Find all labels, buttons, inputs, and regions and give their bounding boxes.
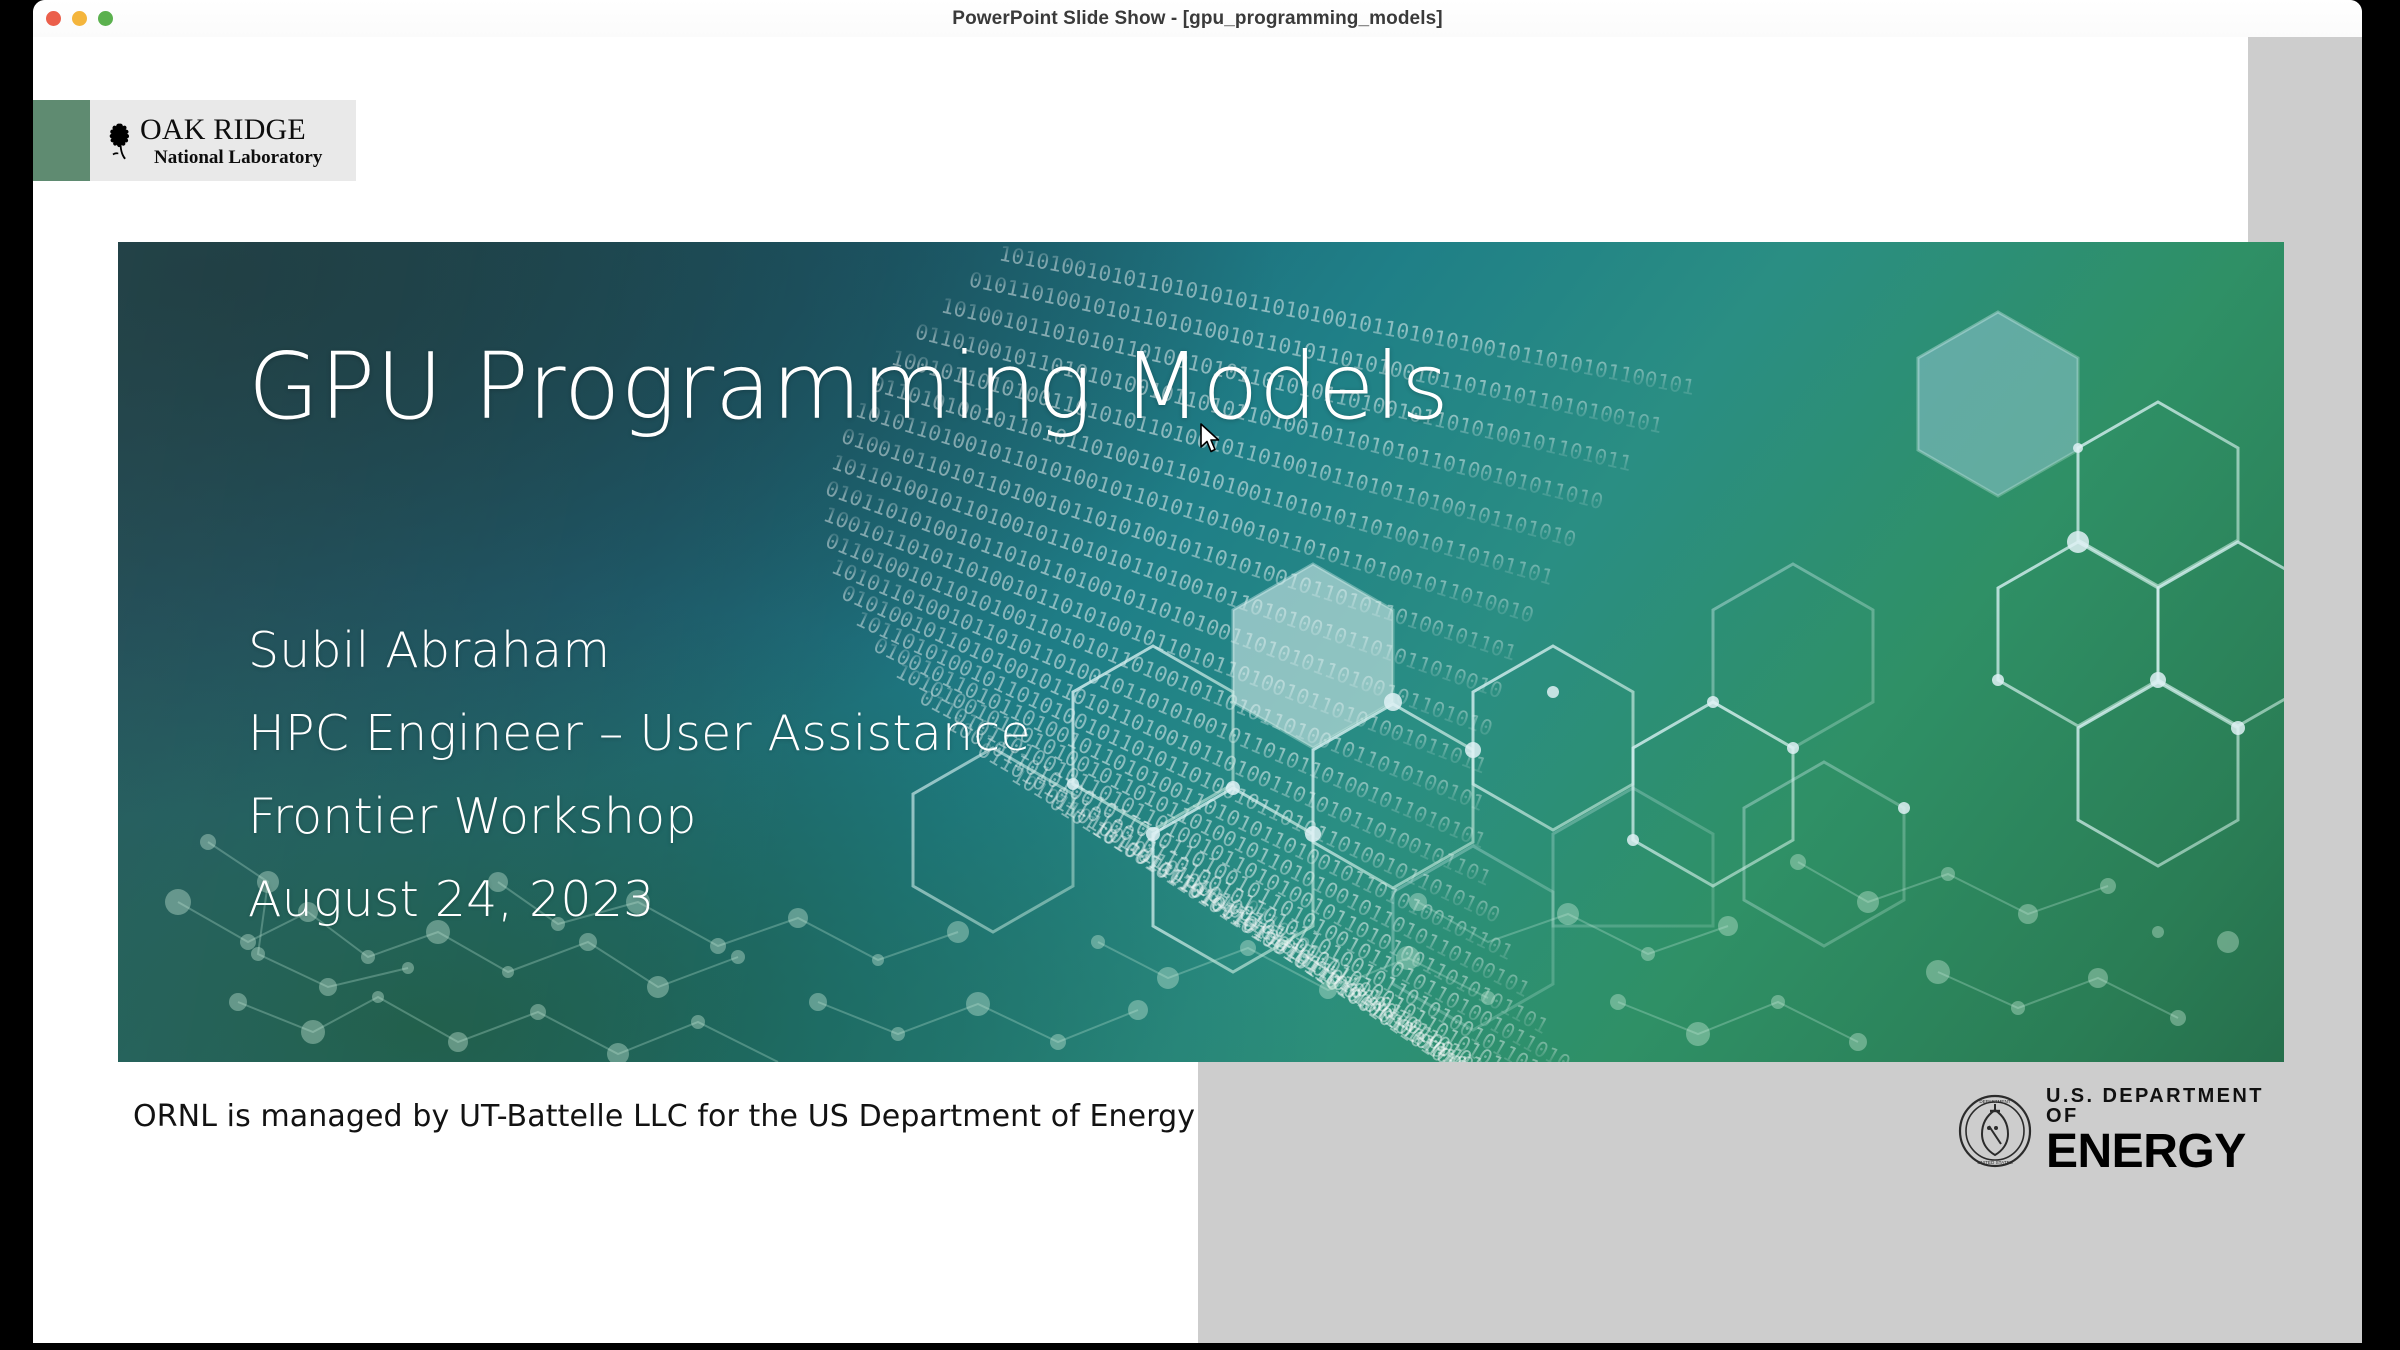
slide-stage[interactable]: OAK RIDGE National Laboratory: [33, 37, 2362, 1343]
subtitle-date: August 24, 2023: [248, 871, 1031, 928]
doe-logo: DEPARTMENT UNITED STATES U.S. DEPARTMENT…: [1958, 1092, 2278, 1170]
ornl-logo: OAK RIDGE National Laboratory: [33, 100, 356, 181]
slide-subtitle-block: Subil Abraham HPC Engineer – User Assist…: [248, 622, 1031, 928]
svg-text:UNITED STATES: UNITED STATES: [1977, 1160, 2013, 1165]
doe-wordmark: U.S. DEPARTMENT OF ENERGY: [2046, 1086, 2278, 1176]
subtitle-role: HPC Engineer – User Assistance: [248, 705, 1031, 762]
svg-text:DEPARTMENT: DEPARTMENT: [1979, 1099, 2010, 1104]
subtitle-event: Frontier Workshop: [248, 788, 1031, 845]
ornl-wordmark-line2: National Laboratory: [154, 148, 322, 167]
window-title-bar: PowerPoint Slide Show - [gpu_programming…: [33, 0, 2362, 38]
subtitle-presenter: Subil Abraham: [248, 622, 1031, 679]
doe-wordmark-line1: U.S. DEPARTMENT OF: [2046, 1086, 2278, 1126]
powerpoint-slideshow-window: PowerPoint Slide Show - [gpu_programming…: [33, 0, 2362, 1343]
ornl-green-block: [33, 100, 90, 181]
slide-hero-image: 1010100101011010101011010100101101010100…: [118, 242, 2284, 1062]
slide-footer-note: ORNL is managed by UT-Battelle LLC for t…: [133, 1099, 1195, 1134]
ornl-wordmark-line1: OAK RIDGE: [140, 115, 322, 145]
ornl-wordmark: OAK RIDGE National Laboratory: [140, 115, 322, 167]
ornl-logo-plate: OAK RIDGE National Laboratory: [90, 100, 356, 181]
oak-leaf-icon: [104, 122, 138, 162]
window-title: PowerPoint Slide Show - [gpu_programming…: [33, 0, 2362, 37]
slide-title: GPU Programming Models: [248, 333, 1449, 440]
doe-wordmark-line2: ENERGY: [2046, 1128, 2278, 1176]
doe-seal-icon: DEPARTMENT UNITED STATES: [1958, 1094, 2032, 1168]
